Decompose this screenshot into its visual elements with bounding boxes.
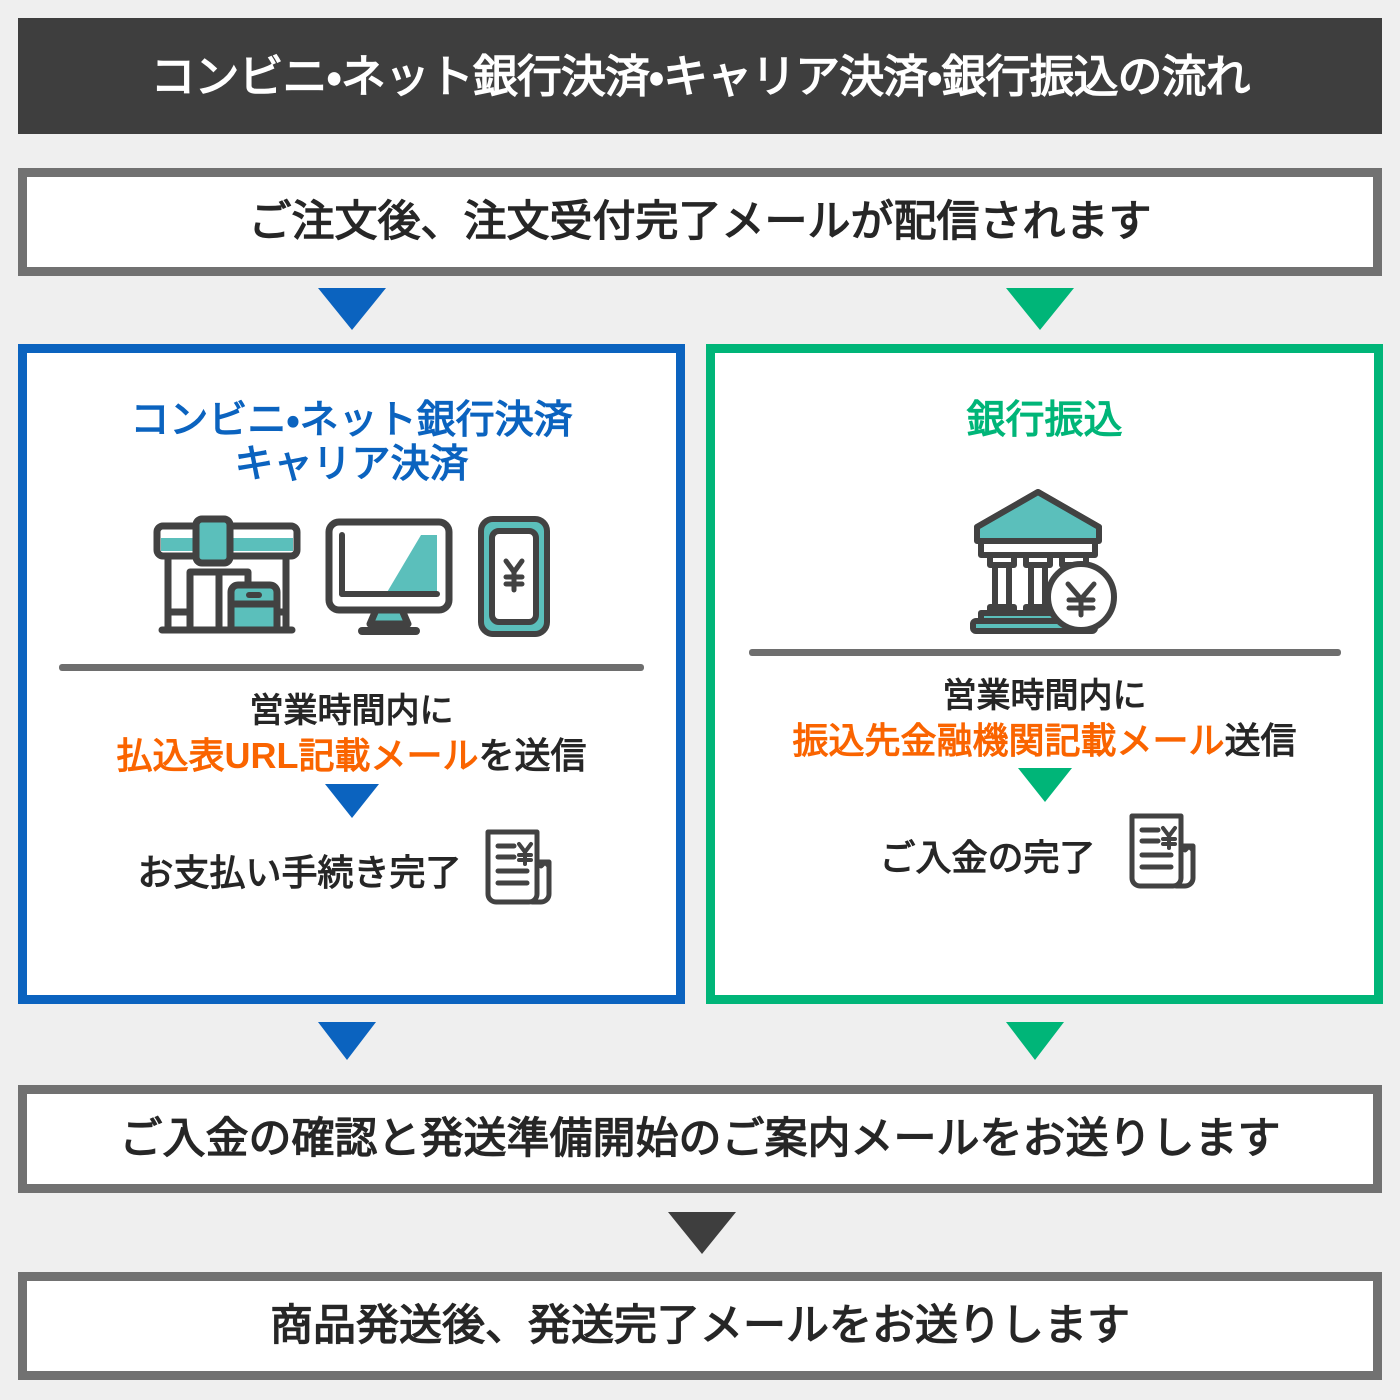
conveni-notice-highlight: 払込表URL記載メール <box>116 735 478 776</box>
page-title: コンビニ・ネット銀行決済・キャリア決済・銀行振込の流れ <box>151 54 1250 99</box>
bank-panel-title: 銀行振込 <box>966 399 1122 443</box>
bank-notice-suffix: 送信 <box>1225 720 1297 761</box>
arrow-down-to-bank-icon <box>1006 288 1074 330</box>
conveni-payment-panel: コンビニ・ネット銀行決済 キャリア決済 <box>18 344 685 1004</box>
step-confirm-label: ご入金の確認と発送準備開始のご案内メールをお送りします <box>120 1118 1281 1161</box>
conveni-divider <box>59 664 644 671</box>
payment-flow-diagram: コンビニ・ネット銀行決済・キャリア決済・銀行振込の流れ ご注文後、注文受付完了メ… <box>0 0 1400 1400</box>
conveni-notice-suffix: を送信 <box>478 735 586 776</box>
arrow-down-from-bank-icon <box>1006 1022 1064 1060</box>
conveni-panel-title: コンビニ・ネット銀行決済 キャリア決済 <box>130 399 572 486</box>
bank-result-row: ご入金の完了 <box>879 806 1209 903</box>
step-confirm-box: ご入金の確認と発送準備開始のご案内メールをお送りします <box>18 1085 1382 1193</box>
bank-transfer-panel: 銀行振込 <box>706 344 1383 1004</box>
bank-notice-line1: 営業時間内に <box>943 676 1147 716</box>
bank-notice-highlight: 振込先金融機関記載メール <box>792 720 1224 761</box>
conveni-result-label: お支払い手続き完了 <box>137 844 461 896</box>
conveni-notice-line2: 払込表URL記載メールを送信 <box>116 735 586 777</box>
step-shipped-box: 商品発送後、発送完了メールをお送りします <box>18 1272 1382 1380</box>
arrow-down-bank-inner-icon <box>1018 768 1072 802</box>
arrow-down-to-conveni-icon <box>318 288 386 330</box>
convenience-store-icon <box>152 514 302 644</box>
desktop-monitor-icon <box>324 514 454 644</box>
conveni-icon-row <box>152 504 552 654</box>
receipt-yen-icon <box>1118 806 1210 903</box>
conveni-notice-line1: 営業時間内に <box>250 691 454 731</box>
bank-icon-row <box>965 489 1125 639</box>
bank-notice-line2: 振込先金融機関記載メール送信 <box>792 720 1296 762</box>
smartphone-yen-icon <box>476 514 552 644</box>
arrow-down-conveni-inner-icon <box>325 784 379 818</box>
step-order-label: ご注文後、注文受付完了メールが配信されます <box>249 201 1152 244</box>
arrow-down-to-shipped-icon <box>668 1212 736 1254</box>
step-order-box: ご注文後、注文受付完了メールが配信されます <box>18 168 1382 276</box>
bank-result-label: ご入金の完了 <box>879 829 1095 881</box>
conveni-result-row: お支払い手続き完了 <box>137 822 565 919</box>
bank-building-yen-icon <box>965 487 1125 640</box>
bank-divider <box>749 649 1341 656</box>
diagram-title-bar: コンビニ・ネット銀行決済・キャリア決済・銀行振込の流れ <box>18 18 1382 134</box>
arrow-down-from-conveni-icon <box>318 1022 376 1060</box>
receipt-yen-icon <box>474 822 566 919</box>
step-shipped-label: 商品発送後、発送完了メールをお送りします <box>270 1305 1130 1348</box>
